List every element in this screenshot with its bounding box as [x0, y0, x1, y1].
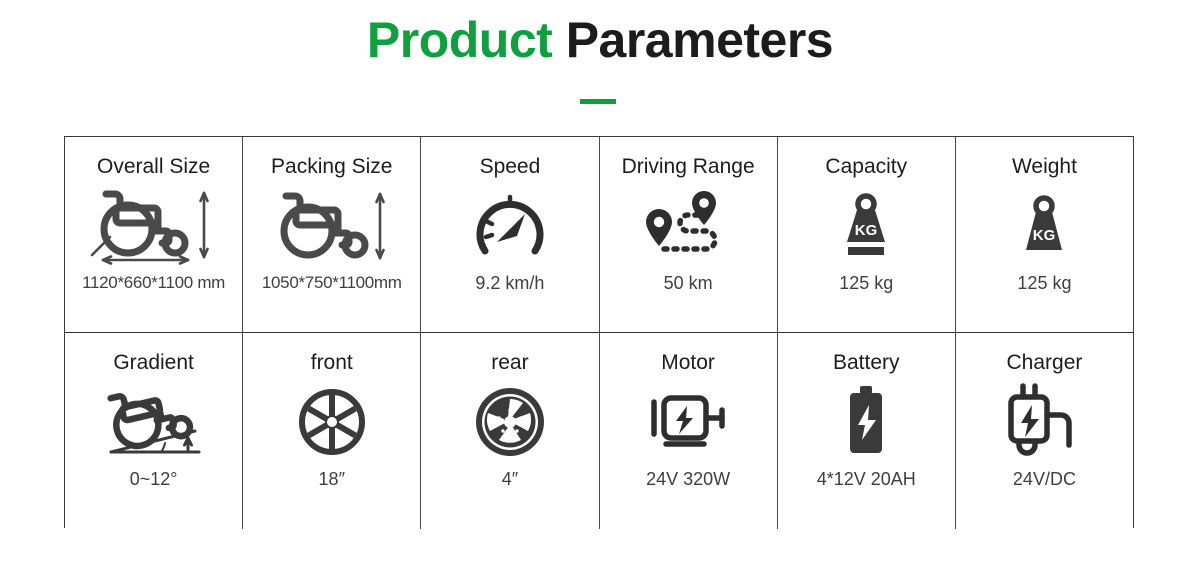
speedometer-icon [471, 183, 549, 269]
param-cell-speed: Speed 9.2 km/h [421, 137, 599, 332]
param-label: Overall Size [97, 153, 210, 181]
wheelchair-dimensions-icon [78, 183, 230, 269]
charger-plug-cable-icon [1002, 379, 1086, 465]
spoke-wheel-icon [297, 379, 367, 465]
wheelchair-incline-icon [95, 379, 213, 465]
param-label: Motor [661, 349, 715, 377]
param-label: front [311, 349, 353, 377]
param-cell-gradient: Gradient [65, 333, 243, 529]
param-value: 4*12V 20AH [817, 467, 916, 491]
param-cell-packing-size: Packing Size [243, 137, 421, 332]
param-label: Capacity [825, 153, 907, 181]
page-title-accent: Product [367, 12, 552, 68]
page-title-main: Parameters [552, 12, 833, 68]
param-cell-charger: Charger 24V/DC [956, 333, 1133, 529]
param-value: 50 km [664, 271, 713, 295]
param-cell-battery: Battery 4*12V 20AH [778, 333, 956, 529]
param-cell-rear-wheel: rear [421, 333, 599, 529]
product-parameters-page: Product Parameters Overall Size [0, 0, 1200, 569]
param-label: rear [491, 349, 528, 377]
param-cell-motor: Motor 24V 320W [600, 333, 778, 529]
param-label: Driving Range [622, 153, 755, 181]
param-label: Battery [833, 349, 900, 377]
param-cell-driving-range: Driving Range 50 km [600, 137, 778, 332]
param-value: 0~12° [130, 467, 178, 491]
param-value: 24V 320W [646, 467, 730, 491]
param-cell-front-wheel: front 18″ [243, 333, 421, 529]
kg-weight-icon: KG [1008, 183, 1080, 269]
param-value: 4″ [502, 467, 518, 491]
param-label: Weight [1012, 153, 1077, 181]
param-value: 1120*660*1100 mm [82, 271, 225, 295]
kg-weight-base-icon: KG [830, 183, 902, 269]
alloy-tire-icon [473, 379, 547, 465]
page-title: Product Parameters [0, 8, 1200, 72]
param-value: 18″ [319, 467, 345, 491]
param-value: 24V/DC [1013, 467, 1076, 491]
param-label: Charger [1007, 349, 1083, 377]
battery-bolt-icon [837, 379, 895, 465]
param-value: 125 kg [1017, 271, 1071, 295]
param-label: Packing Size [271, 153, 392, 181]
param-value: 9.2 km/h [475, 271, 544, 295]
svg-text:KG: KG [1033, 227, 1056, 244]
param-cell-overall-size: Overall Size [65, 137, 243, 332]
title-divider-dash [580, 99, 616, 104]
param-value: 1050*750*1100mm [262, 271, 402, 295]
param-label: Speed [480, 153, 541, 181]
param-cell-weight: Weight KG 125 kg [956, 137, 1133, 332]
parameters-table: Overall Size [64, 136, 1134, 528]
param-value: 125 kg [839, 271, 893, 295]
wheelchair-height-icon [266, 183, 398, 269]
electric-motor-icon [646, 379, 730, 465]
page-header: Product Parameters [0, 8, 1200, 72]
svg-text:KG: KG [855, 222, 878, 239]
table-row: Overall Size [65, 137, 1133, 333]
param-cell-capacity: Capacity KG 125 kg [778, 137, 956, 332]
param-label: Gradient [113, 349, 194, 377]
route-map-pins-icon [633, 183, 743, 269]
table-row: Gradient [65, 333, 1133, 529]
